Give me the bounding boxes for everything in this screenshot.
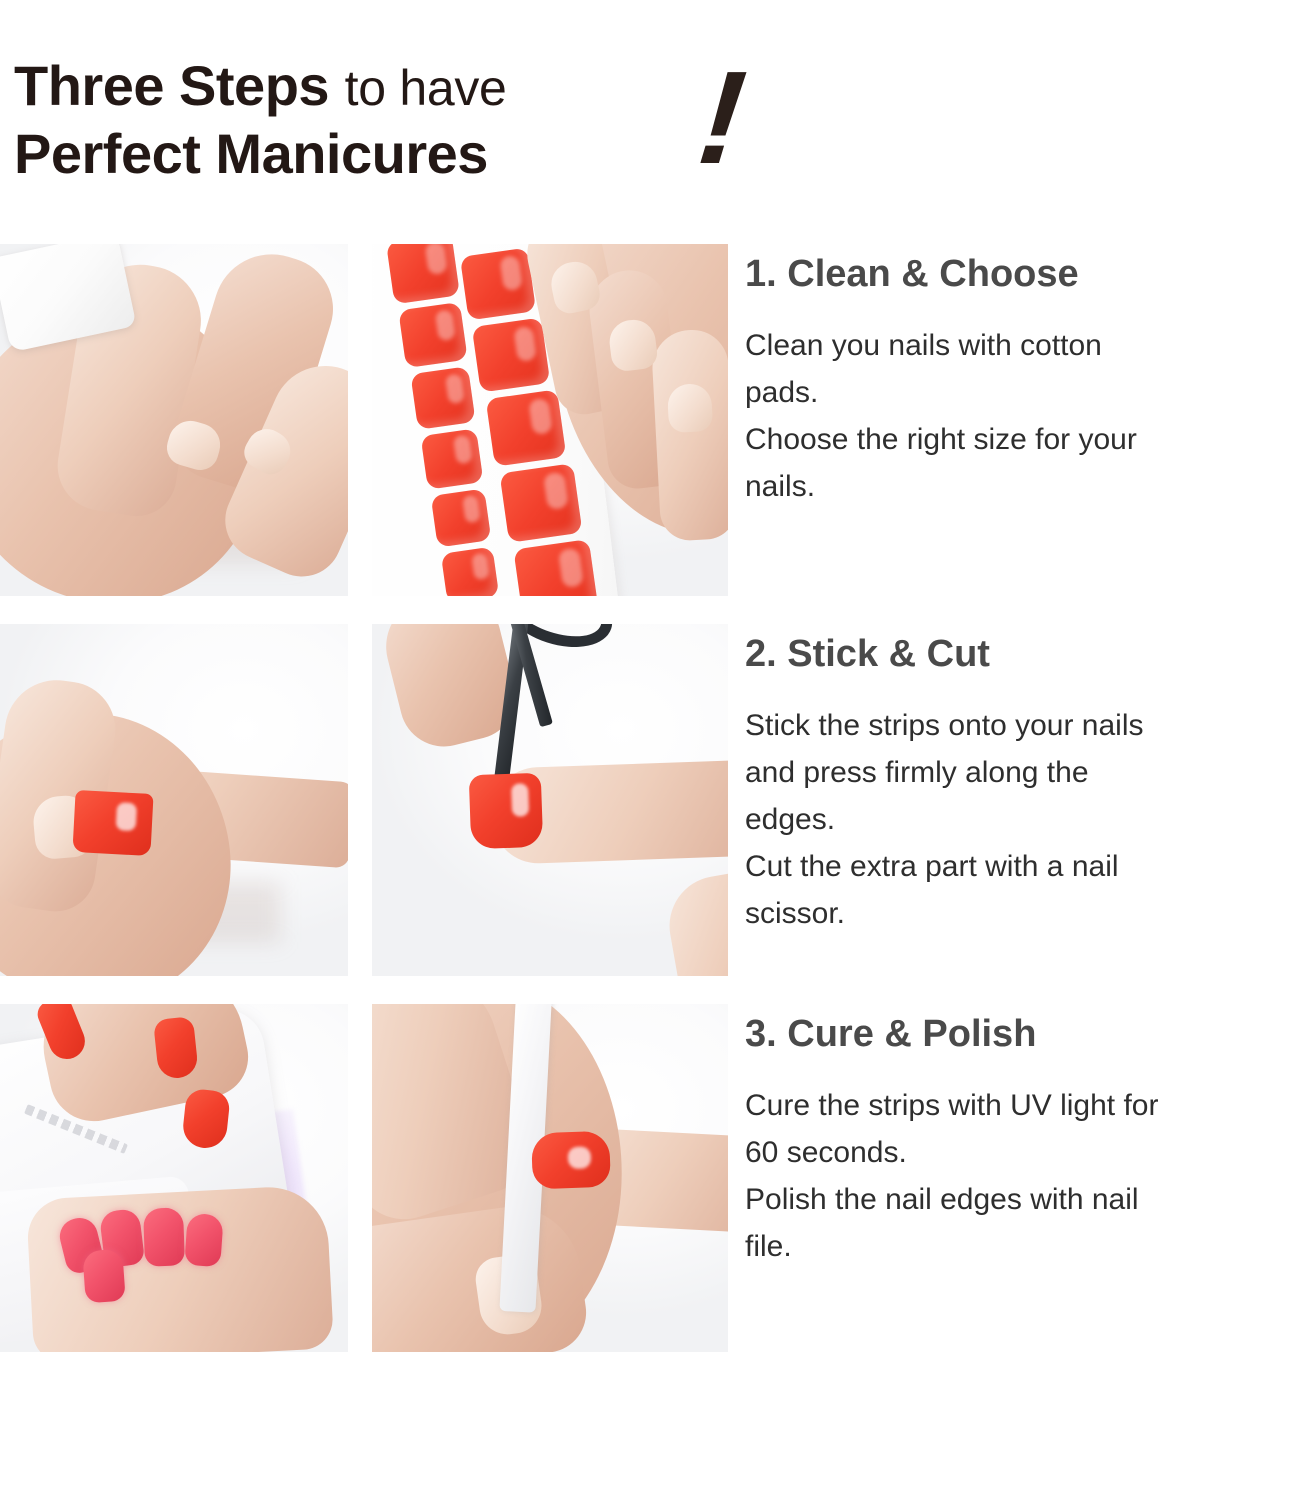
step-2-heading: 2. Stick & Cut [745, 634, 1300, 676]
nail-strip [386, 244, 460, 304]
photo-row-step-3 [0, 1004, 728, 1352]
nail-strip [410, 366, 475, 430]
nail-strip [472, 317, 551, 392]
step-1-body-line-3: Choose the right size for your [745, 416, 1300, 463]
step-3-body-line-1: Cure the strips with UV light for [745, 1082, 1300, 1129]
step-1-body: Clean you nails with cotton pads. Choose… [745, 322, 1300, 510]
photo-cut-with-scissors [372, 624, 728, 976]
nail-strip [421, 428, 484, 489]
photo-uv-lamp-curing [0, 1004, 348, 1352]
step-2-body-line-1: Stick the strips onto your nails [745, 702, 1300, 749]
natural-nail-c [667, 383, 713, 433]
page-title: Three Steps to have Perfect Manicures [14, 58, 774, 208]
step-1-body-line-2: pads. [745, 369, 1300, 416]
step-2-body: Stick the strips onto your nails and pre… [745, 702, 1300, 937]
photo-grid [0, 244, 728, 1356]
step-3-body-line-4: file. [745, 1223, 1300, 1270]
step-1-body-line-4: nails. [745, 463, 1300, 510]
nail-gloss [116, 802, 138, 832]
uv-lit-nail-3 [143, 1207, 185, 1266]
nail-strip [398, 302, 467, 368]
nail-gloss [567, 1146, 591, 1169]
title-line-2: Perfect Manicures [14, 126, 774, 182]
photo-hand-cotton-pad [0, 244, 348, 596]
step-block-3: 3. Cure & Polish Cure the strips with UV… [745, 1014, 1300, 1270]
red-nail-being-cut [469, 773, 544, 849]
step-1-heading: 1. Clean & Choose [745, 254, 1300, 296]
step-3-heading: 3. Cure & Polish [745, 1014, 1300, 1056]
photo-row-step-2 [0, 624, 728, 976]
uv-lit-nail-4 [184, 1213, 224, 1267]
title-strong-1: Three Steps [14, 54, 329, 117]
title-light-1: to have [345, 60, 507, 116]
step-3-body: Cure the strips with UV light for 60 sec… [745, 1082, 1300, 1270]
finger-shape-c [651, 328, 728, 542]
nail-strip [441, 547, 499, 596]
step-block-2: 2. Stick & Cut Stick the strips onto you… [745, 634, 1300, 937]
step-3-body-line-3: Polish the nail edges with nail [745, 1176, 1300, 1223]
nail-strip [486, 389, 567, 466]
uv-lit-nail-5 [82, 1249, 126, 1304]
red-nail-being-filed [531, 1131, 611, 1190]
nail-strip [513, 539, 598, 596]
photo-stick-strip-on-nail [0, 624, 348, 976]
photo-nail-file-polish [372, 1004, 728, 1352]
nail-strip [431, 488, 492, 547]
step-2-body-line-5: scissor. [745, 890, 1300, 937]
step-2-body-line-2: and press firmly along the [745, 749, 1300, 796]
nail-strip [460, 248, 536, 321]
step-1-body-line-1: Clean you nails with cotton [745, 322, 1300, 369]
title-line-1: Three Steps to have [14, 58, 774, 114]
photo-row-step-1 [0, 244, 728, 596]
title-strong-2: Perfect Manicures [14, 122, 488, 185]
step-3-body-line-2: 60 seconds. [745, 1129, 1300, 1176]
photo-nail-strip-sheet [372, 244, 728, 596]
nail-strip [499, 463, 582, 543]
red-strip-on-nail [72, 790, 153, 856]
step-2-body-line-4: Cut the extra part with a nail [745, 843, 1300, 890]
step-2-body-line-3: edges. [745, 796, 1300, 843]
nail-gloss [511, 784, 529, 817]
step-block-1: 1. Clean & Choose Clean you nails with c… [745, 254, 1300, 510]
